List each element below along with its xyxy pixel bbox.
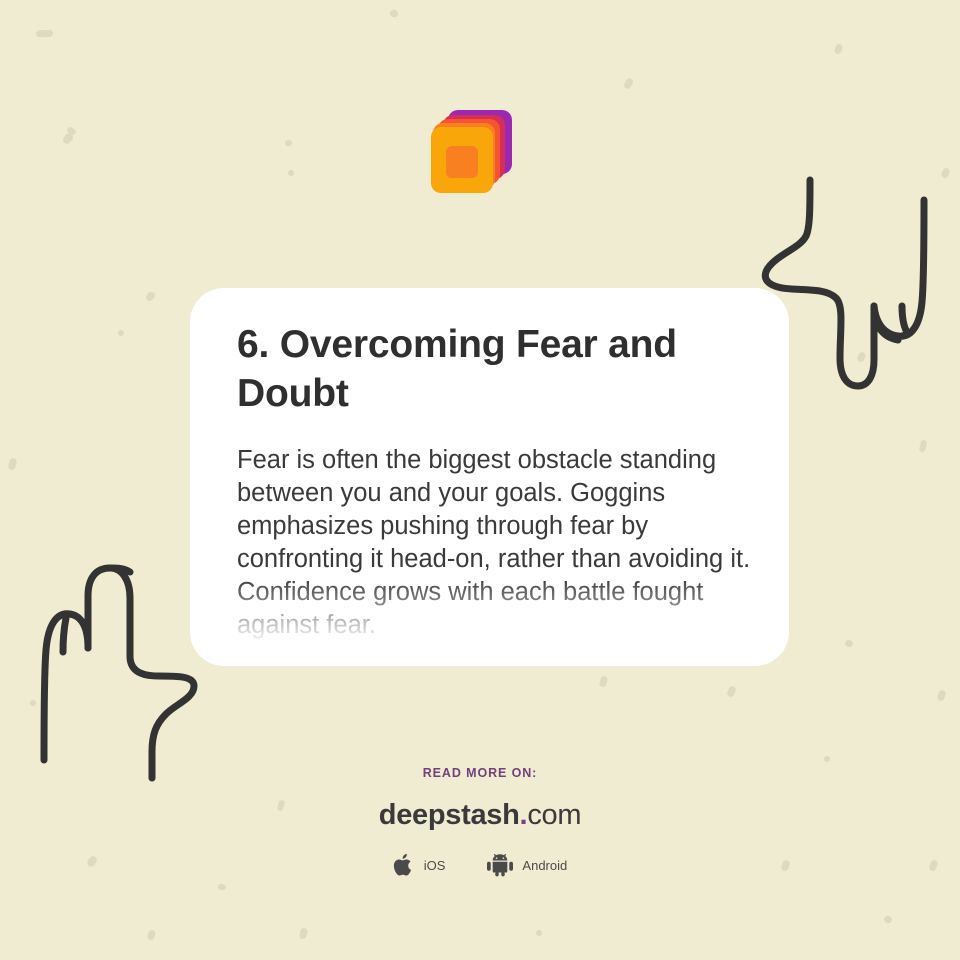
confetti-speck	[218, 883, 227, 890]
confetti-speck	[389, 9, 399, 18]
confetti-speck	[941, 167, 951, 179]
confetti-speck	[598, 675, 608, 688]
app-store-badges: iOS And	[0, 852, 960, 878]
confetti-speck	[145, 293, 153, 301]
confetti-speck	[288, 170, 294, 176]
ios-badge[interactable]: iOS	[393, 852, 446, 878]
confetti-speck	[7, 457, 17, 470]
footer: READ MORE ON: deepstash.com iOS	[0, 766, 960, 878]
confetti-speck	[856, 351, 867, 363]
page-title: 6. Overcoming Fear and Doubt	[237, 320, 751, 418]
confetti-speck	[936, 689, 946, 702]
android-badge[interactable]: Android	[487, 853, 567, 877]
confetti-speck	[147, 292, 155, 299]
confetti-speck	[61, 132, 74, 146]
confetti-speck	[66, 126, 77, 136]
ios-label: iOS	[424, 858, 446, 873]
poster-canvas: 6. Overcoming Fear and Doubt Fear is oft…	[0, 0, 960, 960]
confetti-speck	[845, 639, 854, 647]
pointing-hand-up-icon	[18, 552, 218, 784]
confetti-speck	[833, 43, 843, 55]
confetti-speck	[298, 927, 308, 940]
wordmark-brand: deepstash	[379, 799, 520, 831]
confetti-speck	[919, 439, 928, 452]
wordmark-tld: com	[527, 799, 581, 831]
confetti-speck	[147, 929, 157, 941]
confetti-speck	[118, 330, 124, 336]
confetti-speck	[30, 700, 36, 706]
confetti-speck	[536, 930, 542, 936]
read-more-label: READ MORE ON:	[0, 766, 960, 780]
confetti-speck	[285, 140, 292, 146]
confetti-speck	[883, 915, 892, 923]
deepstash-logo-icon	[428, 106, 516, 194]
idea-card-content: 6. Overcoming Fear and Doubt Fear is oft…	[190, 288, 789, 642]
confetti-speck	[824, 756, 830, 762]
android-label: Android	[522, 858, 567, 873]
android-icon	[487, 853, 513, 877]
confetti-speck	[36, 30, 53, 38]
idea-card: 6. Overcoming Fear and Doubt Fear is oft…	[190, 288, 789, 666]
apple-icon	[393, 852, 415, 878]
confetti-speck	[623, 77, 634, 90]
idea-body-text: Fear is often the biggest obstacle stand…	[237, 444, 751, 642]
confetti-speck	[726, 685, 737, 698]
deepstash-wordmark[interactable]: deepstash.com	[0, 801, 960, 830]
